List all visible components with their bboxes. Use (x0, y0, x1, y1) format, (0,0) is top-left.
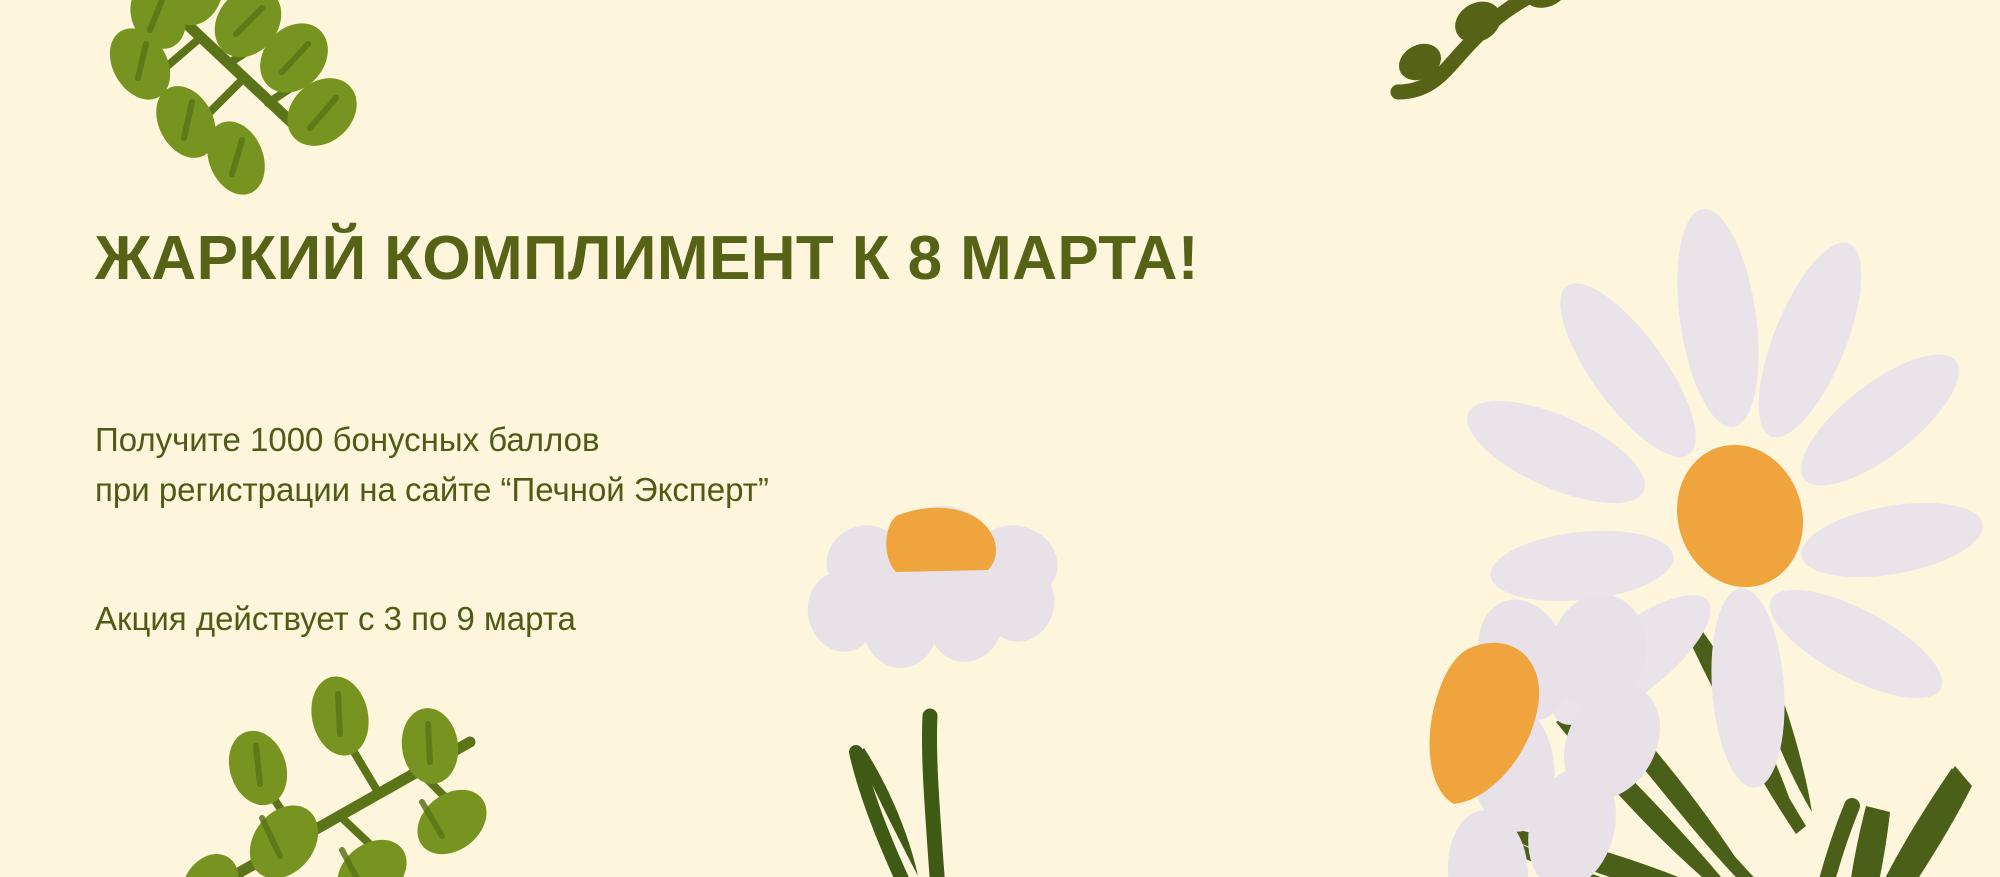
promo-banner: ЖАРКИЙ КОМПЛИМЕНТ К 8 МАРТА! Получите 10… (0, 0, 2000, 877)
top-left-leafy-branch-icon (98, 0, 371, 203)
offer-line-2: при регистрации на сайте “Печной Эксперт… (95, 465, 769, 515)
tilted-daisy-icon (1430, 585, 1679, 877)
offer-description: Получите 1000 бонусных баллов при регист… (95, 415, 769, 515)
large-daisy-icon (1454, 204, 1989, 790)
top-right-vine-sprig-icon (1393, 0, 1626, 92)
bottom-left-leafy-branch-icon (170, 671, 499, 877)
leaf-cluster-icon (1506, 616, 1972, 877)
promo-validity-text: Акция действует с 3 по 9 марта (95, 596, 576, 642)
page-title: ЖАРКИЙ КОМПЛИМЕНТ К 8 МАРТА! (95, 228, 1199, 290)
small-daisy-icon (800, 504, 1067, 877)
offer-line-1: Получите 1000 бонусных баллов (95, 415, 769, 465)
